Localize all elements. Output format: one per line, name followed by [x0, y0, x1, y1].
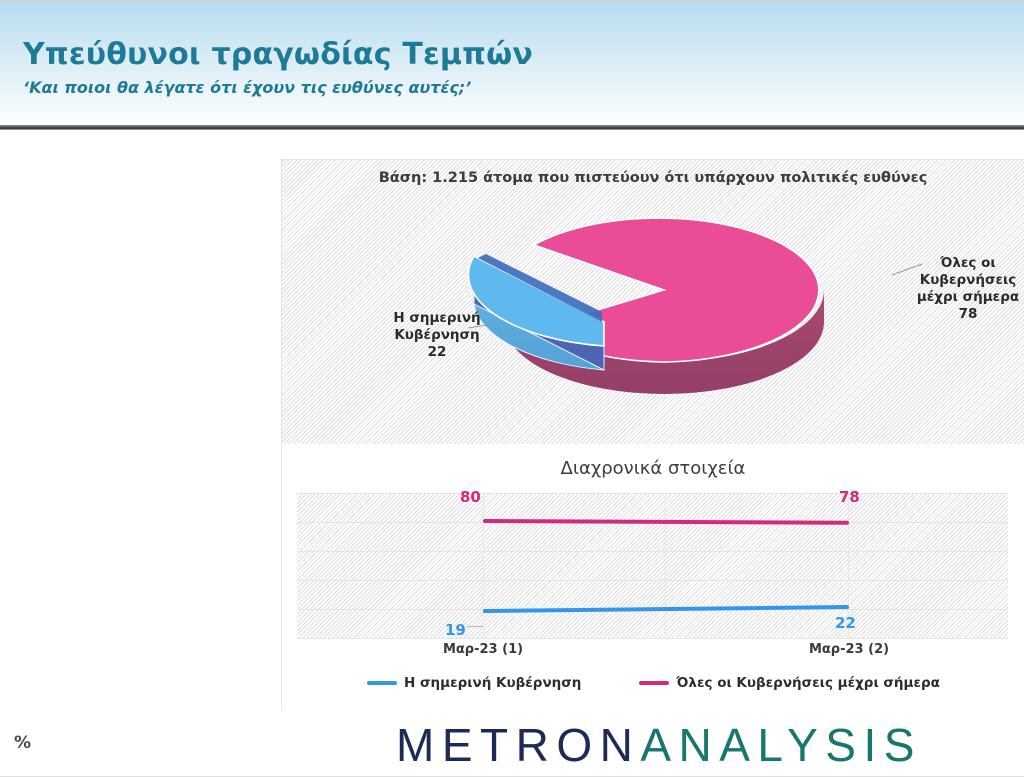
gridline-v: [665, 493, 666, 639]
pie-label-current-government: Η σημερινή Κυβέρνηση 22: [383, 310, 491, 361]
logo-word-metron: METRON: [396, 718, 640, 772]
gridline-v: [483, 493, 484, 639]
gridline-h: [297, 551, 1008, 552]
gridline-h: [297, 638, 1008, 639]
pie-label-left-line2: Κυβέρνηση: [383, 327, 491, 344]
percent-axis-unit: %: [14, 733, 31, 753]
data-label-leader-19: [467, 609, 483, 627]
data-label-blue-end: 22: [835, 614, 856, 632]
pie-label-right-line1: Όλες οι: [913, 255, 1023, 272]
line-chart-x-axis: Μαρ-23 (1) Μαρ-23 (2): [297, 642, 1008, 664]
line-chart-legend: Η σημερινή Κυβέρνηση Όλες οι Κυβερνήσεις…: [282, 670, 1024, 696]
page-subtitle: ‘Και ποιοι θα λέγατε ότι έχουν τις ευθύν…: [23, 78, 471, 97]
pie-value-all-governments: 78: [913, 306, 1023, 323]
pie-label-right-line3: μέχρι σήμερα: [913, 289, 1023, 306]
gridline-h: [297, 493, 1008, 494]
line-chart-panel: Διαχρονικά στοιχεία 80 78 19 22 Μαρ-23 (…: [281, 444, 1024, 727]
line-chart-plot-area: 80 78 19 22: [297, 493, 1008, 639]
page-header: Υπεύθυνοι τραγωδίας Τεμπών ‘Και ποιοι θα…: [0, 0, 1024, 130]
pie-label-all-governments: Όλες οι Κυβερνήσεις μέχρι σήμερα 78: [913, 255, 1023, 323]
x-tick-label-2: Μαρ-23 (2): [779, 642, 919, 657]
legend-label-current-government: Η σημερινή Κυβέρνηση: [404, 675, 581, 691]
pie-chart-graphic: Όλες οι Κυβερνήσεις μέχρι σήμερα 78 Η ση…: [282, 160, 1024, 445]
pie-label-left-line1: Η σημερινή: [383, 310, 491, 327]
pie-label-right-line2: Κυβερνήσεις: [913, 272, 1023, 289]
data-label-pink-end: 78: [839, 488, 860, 506]
data-label-blue-start: 19: [445, 621, 466, 639]
legend-item-current-government[interactable]: Η σημερινή Κυβέρνηση: [367, 675, 581, 691]
line-chart-title: Διαχρονικά στοιχεία: [282, 458, 1024, 479]
gridline-h: [297, 580, 1008, 581]
data-label-pink-start: 80: [460, 488, 481, 506]
pie-chart-panel: Βάση: 1.215 άτομα που πιστεύουν ότι υπάρ…: [281, 159, 1024, 444]
header-top-rule: [0, 0, 1024, 2]
page-title: Υπεύθυνοι τραγωδίας Τεμπών: [23, 37, 533, 72]
metron-analysis-logo: METRON ANALYSIS: [396, 717, 956, 773]
x-tick-label-1: Μαρ-23 (1): [413, 642, 553, 657]
legend-swatch-pink-icon: [639, 681, 669, 685]
legend-swatch-blue-icon: [367, 681, 397, 685]
logo-word-analysis: ANALYSIS: [640, 718, 922, 772]
legend-label-all-governments: Όλες οι Κυβερνήσεις μέχρι σήμερα: [676, 675, 940, 691]
page-footer: % METRON ANALYSIS: [0, 711, 1024, 777]
legend-item-all-governments[interactable]: Όλες οι Κυβερνήσεις μέχρι σήμερα: [639, 675, 940, 691]
pie-value-current-government: 22: [383, 344, 491, 361]
